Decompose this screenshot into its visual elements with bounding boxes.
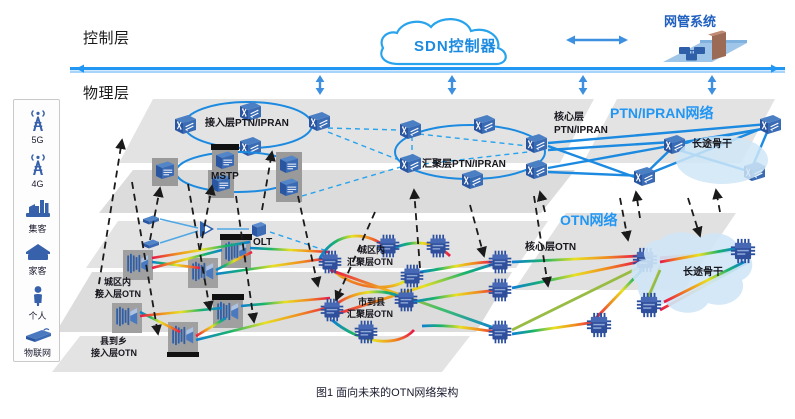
cell-tower-icon: [24, 106, 52, 134]
access-layer-ptn-label: 接入层PTN/IPRAN: [205, 119, 289, 129]
urban-access-otn-label-2: 接入层OTN: [95, 290, 141, 299]
figure-caption: 图1 面向未来的OTN网络架构: [316, 388, 458, 399]
sidebar-item-enterprise[interactable]: 集客: [14, 197, 61, 235]
control-physical-sync-arrows: [316, 75, 717, 95]
aggregation-layer-ptn-label: 汇聚层PTN/IPRAN: [422, 160, 506, 170]
urban-access-otn-label-1: 城区内: [104, 278, 131, 287]
sidebar-item-4g[interactable]: 4G: [14, 150, 61, 189]
county-access-otn-label-2: 接入层OTN: [91, 349, 137, 358]
sidebar-item-label: 个人: [14, 309, 61, 322]
house-icon: [23, 241, 53, 263]
sidebar-item-label: 家客: [14, 264, 61, 277]
long-haul-backbone-otn-label: 长途骨干: [683, 268, 723, 278]
control-layer-title: 控制层: [83, 31, 130, 46]
network-management-server-icon: [663, 31, 747, 63]
otn-network-title: OTN网络: [560, 213, 618, 227]
cell-tower-icon: [24, 150, 52, 178]
sidebar-item-home[interactable]: 家客: [14, 241, 61, 277]
ptn-network-title: PTN/IPRAN网络: [610, 106, 713, 120]
sidebar-item-label: 物联网: [14, 346, 61, 359]
core-layer-ptn-label-2: PTN/IPRAN: [554, 126, 608, 136]
city-county-agg-otn-label-2: 汇聚层OTN: [347, 310, 393, 319]
long-haul-backbone-ptn-label: 长途骨干: [692, 140, 732, 150]
urban-agg-otn-label-2: 汇聚层OTN: [347, 258, 393, 267]
county-access-otn-label-1: 县到乡: [100, 337, 127, 346]
nms-label: 网管系统: [664, 15, 716, 28]
client-type-legend: 5G 4G 集客: [13, 99, 60, 362]
sidebar-item-5g[interactable]: 5G: [14, 106, 61, 145]
sidebar-item-individual[interactable]: 个人: [14, 284, 61, 322]
core-layer-otn-label: 核心层OTN: [525, 243, 576, 253]
sidebar-item-label: 4G: [14, 179, 61, 189]
diagram-canvas: 5G 4G 集客: [0, 0, 795, 419]
olt-label: OLT: [253, 238, 272, 248]
mstp-label: MSTP: [211, 172, 239, 182]
control-layer-rail: [70, 65, 785, 73]
controller-nms-link: [566, 36, 628, 45]
person-icon: [26, 284, 50, 308]
iot-gateway-icon: [22, 325, 54, 345]
city-county-agg-otn-label-1: 市到县: [358, 298, 385, 307]
core-layer-ptn-label-1: 核心层: [554, 113, 584, 123]
factory-icon: [23, 197, 53, 221]
urban-agg-otn-label-1: 城区内: [358, 246, 385, 255]
physical-layer-title: 物理层: [83, 86, 130, 101]
sidebar-item-iot[interactable]: 物联网: [14, 325, 61, 359]
sidebar-item-label: 集客: [14, 222, 61, 235]
sidebar-item-label: 5G: [14, 135, 61, 145]
sdn-controller-label: SDN控制器: [414, 39, 497, 54]
